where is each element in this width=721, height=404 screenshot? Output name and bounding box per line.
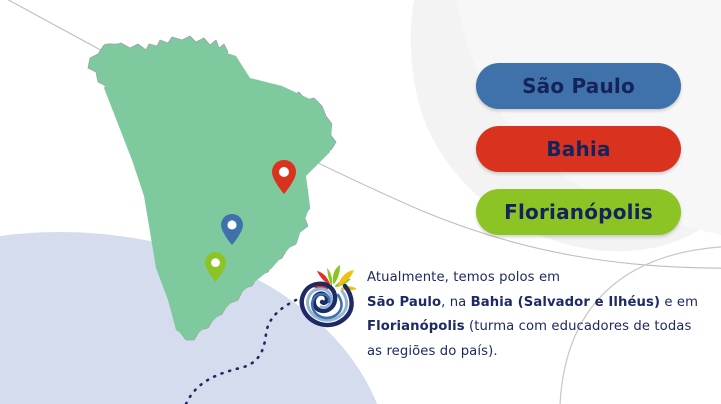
pill-sao-paulo-label: São Paulo [522,74,635,98]
pill-bahia-label: Bahia [546,137,610,161]
pill-florianopolis[interactable]: Florianópolis [476,189,681,235]
caption-line-3: Florianópolis (turma com educadores de t… [367,315,713,340]
pin-dot [279,167,289,177]
caption-bold-bahia: Bahia (Salvador e Ilhéus) [471,295,660,310]
caption-mid-2: e em [660,295,698,310]
caption-line4-text: as regiões do país). [367,344,498,359]
caption-bold-sao-paulo: São Paulo [367,295,441,310]
pill-florianopolis-label: Florianópolis [504,200,653,224]
pill-bahia[interactable]: Bahia [476,126,681,172]
caption-line-1: Atualmente, temos polos em [367,266,713,291]
pill-sao-paulo[interactable]: São Paulo [476,63,681,109]
location-pill-stack: São Paulo Bahia Florianópolis [476,63,681,235]
spiral-logo [297,262,367,332]
slide-root: São Paulo Bahia Florianópolis Atualmente… [0,0,721,404]
caption-line1-text: Atualmente, temos polos em [367,270,560,285]
caption-bold-florianopolis: Florianópolis [367,319,465,334]
logo-leaves [311,265,357,291]
map-pin-sao-paulo[interactable] [221,214,243,245]
pin-dot [227,220,236,229]
caption-mid-3: (turma com educadores de todas [465,319,692,334]
pin-dot [211,258,220,267]
caption-text-block: Atualmente, temos polos em São Paulo, na… [367,266,713,364]
map-pin-florianopolis[interactable] [205,252,226,282]
caption-mid-1: , na [441,295,471,310]
caption-line-4: as regiões do país). [367,340,713,365]
map-pin-bahia[interactable] [272,160,296,194]
caption-line-2: São Paulo, na Bahia (Salvador e Ilhéus) … [367,291,713,316]
